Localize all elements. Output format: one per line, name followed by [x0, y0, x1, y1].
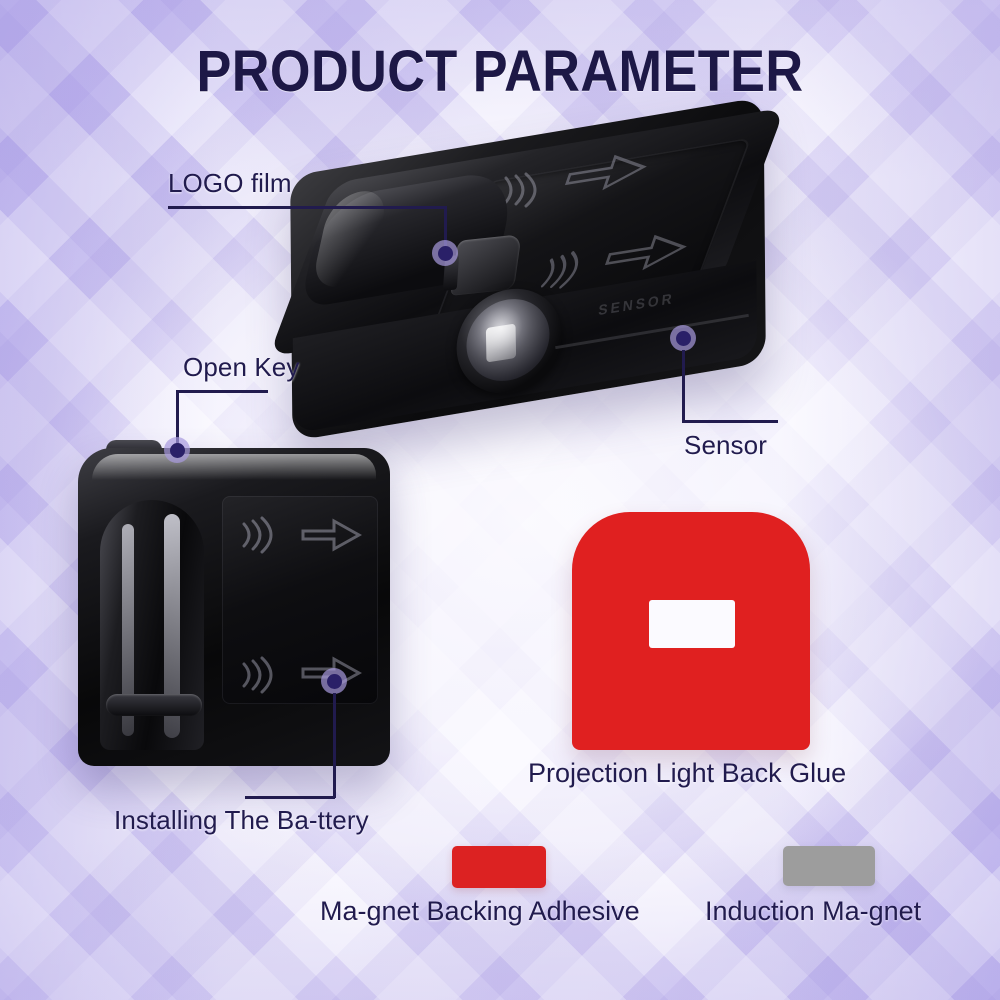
device-bottom-projector-image: [78, 448, 390, 766]
callout-leader-sensor-horizontal: [682, 420, 778, 423]
power-slider-switch: [106, 694, 202, 716]
caption-projection-light-back-glue: Projection Light Back Glue: [528, 758, 846, 789]
callout-leader-open-key-horizontal: [176, 390, 268, 393]
callout-dot-battery: [321, 668, 347, 694]
callout-leader-battery-vertical: [333, 693, 336, 798]
wave-icon: [236, 654, 284, 700]
glue-pad-window: [649, 600, 735, 648]
device-top-projector-image: SENSOR: [268, 120, 788, 430]
wave-icon: [236, 514, 284, 560]
lens-highlight: [486, 323, 516, 362]
callout-label-open-key: Open Key: [183, 352, 299, 383]
caption-magnet-backing-adhesive: Ma-gnet Backing Adhesive: [320, 896, 640, 927]
callout-label-battery: Installing The Ba-ttery: [114, 805, 369, 836]
callout-dot-open-key: [164, 437, 190, 463]
callout-dot-logo-film: [432, 240, 458, 266]
swatch-induction-magnet: [783, 846, 875, 886]
callout-leader-battery-horizontal: [245, 796, 335, 799]
page-title: PRODUCT PARAMETER: [50, 38, 950, 105]
swatch-magnet-backing-adhesive: [452, 846, 546, 888]
shell-top-gloss: [92, 454, 376, 480]
logo-film-latch: [450, 234, 521, 296]
callout-label-sensor: Sensor: [684, 430, 767, 461]
projection-light-back-glue-pad: [572, 512, 810, 750]
callout-leader-sensor-vertical: [682, 350, 685, 422]
infographic-canvas: PRODUCT PARAMETER SENS: [0, 0, 1000, 1000]
caption-induction-magnet: Induction Ma-gnet: [705, 896, 921, 927]
callout-dot-sensor: [670, 325, 696, 351]
arrow-icon: [300, 518, 362, 552]
callout-label-logo-film: LOGO film: [168, 168, 292, 199]
callout-leader-logo-film-horizontal: [168, 206, 446, 209]
